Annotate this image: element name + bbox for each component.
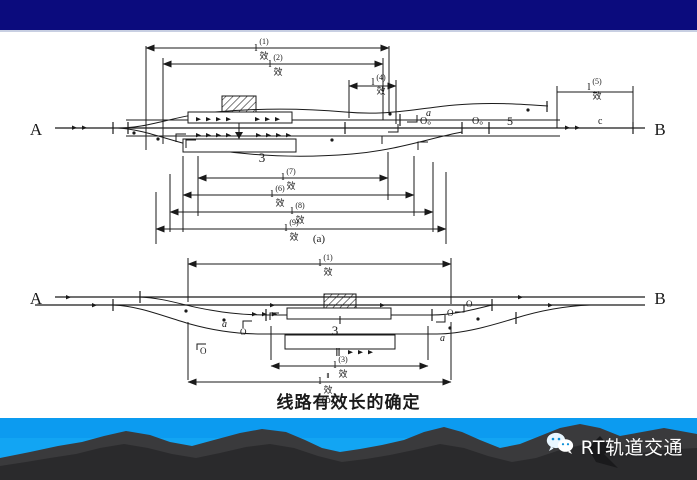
turnout-mark-o-1: O。 bbox=[420, 116, 437, 127]
turnout-mark-o-2: O。 bbox=[472, 116, 489, 127]
svg-text:效: 效 bbox=[273, 66, 282, 78]
svg-text:(3): (3) bbox=[338, 355, 348, 364]
track-label-3: 3 bbox=[259, 150, 266, 165]
dimension-label-a2: (2) l 效 bbox=[268, 53, 283, 78]
svg-text:效: 效 bbox=[376, 85, 385, 97]
endpoint-label-a-right: B bbox=[654, 120, 665, 139]
track-label-b3: 3 bbox=[332, 323, 339, 338]
turnout-mark-b-o3: O bbox=[447, 308, 454, 318]
track-label-roman-1: Ⅰ bbox=[338, 315, 341, 327]
dimension-label-b2: (3) l 效 bbox=[333, 355, 348, 380]
diagram-a-sublabel: (a) bbox=[313, 233, 326, 245]
svg-text:l: l bbox=[268, 58, 271, 70]
svg-text:效: 效 bbox=[259, 50, 268, 62]
turnout-angle-b-left: a bbox=[222, 319, 227, 330]
svg-text:l: l bbox=[284, 222, 287, 234]
turnout-mark-b-o4: O bbox=[466, 299, 473, 309]
svg-text:l: l bbox=[371, 76, 374, 88]
wechat-icon bbox=[546, 432, 574, 460]
svg-text:(5): (5) bbox=[592, 77, 602, 86]
screenshot-root: 3 5 bbox=[0, 0, 697, 480]
svg-text:l: l bbox=[281, 171, 284, 183]
svg-text:(1): (1) bbox=[259, 37, 269, 46]
turnout-angle-b-right: a bbox=[440, 333, 445, 344]
svg-text:(4): (4) bbox=[376, 73, 386, 82]
dimension-label-a4: (5) l 效 bbox=[587, 77, 602, 102]
diagram-canvas: 3 5 bbox=[0, 32, 697, 410]
dimension-label-a8: (9) l 效 bbox=[284, 218, 299, 243]
svg-text:(6): (6) bbox=[275, 184, 285, 193]
track-label-5: 5 bbox=[507, 114, 513, 128]
dimension-label-a6: (6) l 效 bbox=[270, 184, 285, 209]
svg-text:(7): (7) bbox=[286, 167, 296, 176]
svg-text:(2): (2) bbox=[273, 53, 283, 62]
svg-text:效: 效 bbox=[338, 368, 347, 380]
turnout-mark-b-o2: O bbox=[200, 346, 207, 356]
svg-text:l: l bbox=[254, 42, 257, 54]
svg-text:(1): (1) bbox=[323, 253, 333, 262]
svg-text:效: 效 bbox=[286, 180, 295, 192]
svg-text:(9): (9) bbox=[289, 218, 299, 227]
svg-text:l: l bbox=[270, 188, 273, 200]
svg-text:效: 效 bbox=[323, 266, 332, 278]
watermark-text: RT轨道交通 bbox=[581, 433, 683, 460]
turnout-mark-b-o1: O bbox=[240, 327, 247, 337]
turnout-mark-c: c bbox=[598, 116, 603, 127]
dimension-label-a3: (4) l 效 bbox=[371, 73, 386, 97]
top-navy-banner bbox=[0, 0, 697, 30]
dimension-label-b1: (1) l 效 bbox=[318, 253, 333, 278]
svg-text:l: l bbox=[318, 375, 321, 387]
svg-text:效: 效 bbox=[289, 231, 298, 243]
endpoint-label-b-right: B bbox=[654, 289, 665, 308]
dimension-label-a1: (1) l 效 bbox=[254, 37, 269, 62]
svg-text:Ⅱ: Ⅱ bbox=[326, 372, 329, 380]
svg-text:效: 效 bbox=[592, 90, 601, 102]
endpoint-label-a-left: A bbox=[30, 120, 43, 139]
svg-text:l: l bbox=[290, 205, 293, 217]
svg-text:l: l bbox=[318, 257, 321, 269]
svg-text:l: l bbox=[333, 359, 336, 371]
svg-text:效: 效 bbox=[275, 197, 284, 209]
watermark: RT轨道交通 bbox=[546, 432, 683, 460]
svg-text:(8): (8) bbox=[295, 201, 305, 210]
svg-text:l: l bbox=[587, 81, 590, 93]
figure-caption: 线路有效长的确定 bbox=[0, 388, 697, 413]
endpoint-label-b-left: A bbox=[30, 289, 43, 308]
